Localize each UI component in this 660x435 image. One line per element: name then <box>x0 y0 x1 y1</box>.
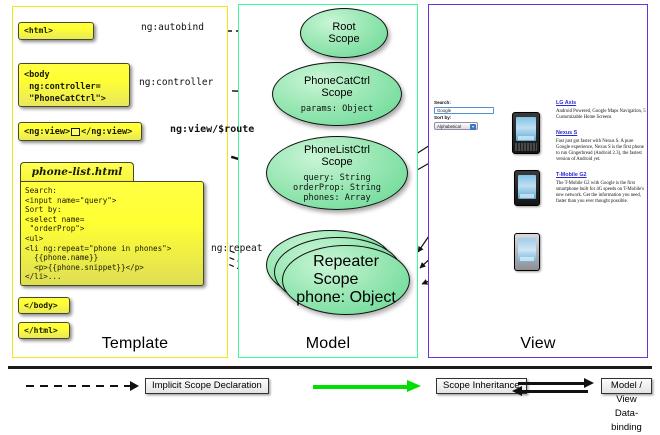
legend-dashed-line-icon <box>26 385 130 387</box>
view-phone-listing: LG Axis Android Powered, Google Maps Nav… <box>556 100 648 214</box>
phone-screen <box>518 238 536 262</box>
connector-label-ng-controller: ng:controller <box>139 77 213 88</box>
scope-phonelistctrl-title: PhoneListCtrl Scope <box>304 144 370 169</box>
ng-view-open-tag: <ng:view> <box>24 127 70 137</box>
scope-repeater-title: Repeater Scope <box>313 253 379 289</box>
scope-phonecatctrl: PhoneCatCtrl Scope params: Object <box>272 62 402 126</box>
phone-snippet-nexus-s: Fast just got faster with Nexus S. A pur… <box>556 139 648 163</box>
code-box-html-close: </html> <box>18 322 70 339</box>
legend-bind-line-bottom-icon <box>518 390 588 393</box>
phone-screen <box>516 117 536 141</box>
connector-label-ng-view-route: ng:view/$route <box>170 124 254 135</box>
scope-phonecatctrl-title: PhoneCatCtrl Scope <box>304 75 370 100</box>
ng-view-close-tag: </ng:view> <box>81 127 132 137</box>
legend-label-implicit-scope-declaration: Implicit Scope Declaration <box>145 378 269 394</box>
phone-snippet-lg-axis: Android Powered, Google Maps Navigation,… <box>556 109 648 121</box>
view-search-label: Search: <box>434 100 496 106</box>
connector-label-ng-autobind: ng:autobind <box>141 22 204 33</box>
ng-view-placeholder-icon <box>71 128 80 136</box>
view-search-widget: Search: Google Sort by: Alphabetical <box>434 100 496 130</box>
phone-link-t-mobile-g2[interactable]: T-Mobile G2 <box>556 172 648 179</box>
file-card-phone-list: phone-list.html Search: <input name="que… <box>20 162 204 286</box>
legend: Implicit Scope Declaration Scope Inherit… <box>8 378 652 398</box>
scope-repeater-props: phone: Object <box>296 289 396 307</box>
legend-bind-line-top-icon <box>518 382 588 385</box>
phone-thumbnail-lg-axis <box>512 112 540 154</box>
phone-snippet-t-mobile-g2: The T-Mobile G2 with Google is the first… <box>556 181 648 205</box>
scope-repeater: Repeater Scope phone: Object <box>282 245 410 315</box>
view-sort-value: Alphabetical <box>437 124 461 129</box>
scope-repeater-stack: Repeater Scope phone: Object <box>266 230 418 326</box>
phone-link-lg-axis[interactable]: LG Axis <box>556 100 648 107</box>
scope-root: Root Scope <box>300 8 388 58</box>
scope-phonelistctrl-props: query: String orderProp: String phones: … <box>293 173 381 203</box>
panel-model-label: Model <box>239 335 417 353</box>
connector-label-ng-repeat: ng:repeat <box>211 243 262 254</box>
view-sort-select[interactable]: Alphabetical <box>434 122 478 130</box>
legend-green-line-icon <box>313 385 409 389</box>
legend-dashed-arrowhead-icon <box>130 381 139 391</box>
file-card-code: Search: <input name="query"> Sort by: <s… <box>20 181 204 286</box>
code-box-body-open: <body ng:controller= "PhoneCatCtrl"> <box>18 63 130 107</box>
phone-thumbnail-nexus-s <box>514 170 540 206</box>
scope-phonelistctrl: PhoneListCtrl Scope query: String orderP… <box>266 136 408 210</box>
legend-divider <box>8 366 652 369</box>
chevron-down-icon <box>470 124 476 130</box>
phone-screen <box>518 175 536 199</box>
panel-view-label: View <box>429 335 647 353</box>
legend-bind-arrowhead-right-icon <box>584 378 594 388</box>
phone-keyboard <box>515 143 537 151</box>
legend-label-model-view-data-binding: Model / View Data-binding <box>601 378 652 394</box>
code-box-html-open: <html> <box>18 22 94 40</box>
code-box-ng-view: <ng:view></ng:view> <box>18 122 142 141</box>
file-card-filename: phone-list.html <box>20 162 134 183</box>
code-box-body-close: </body> <box>18 297 70 314</box>
scope-phonecatctrl-props: params: Object <box>301 104 373 114</box>
legend-bind-arrowhead-left-icon <box>512 386 522 396</box>
scope-root-title: Root Scope <box>328 21 359 46</box>
legend-green-arrowhead-icon <box>407 380 421 392</box>
diagram-root: Template <html> <body ng:controller= "Ph… <box>0 0 660 405</box>
view-search-input[interactable]: Google <box>434 107 494 114</box>
phone-thumbnail-t-mobile-g2 <box>514 233 540 271</box>
view-sort-label: Sort by: <box>434 115 496 121</box>
phone-link-nexus-s[interactable]: Nexus S <box>556 130 648 137</box>
